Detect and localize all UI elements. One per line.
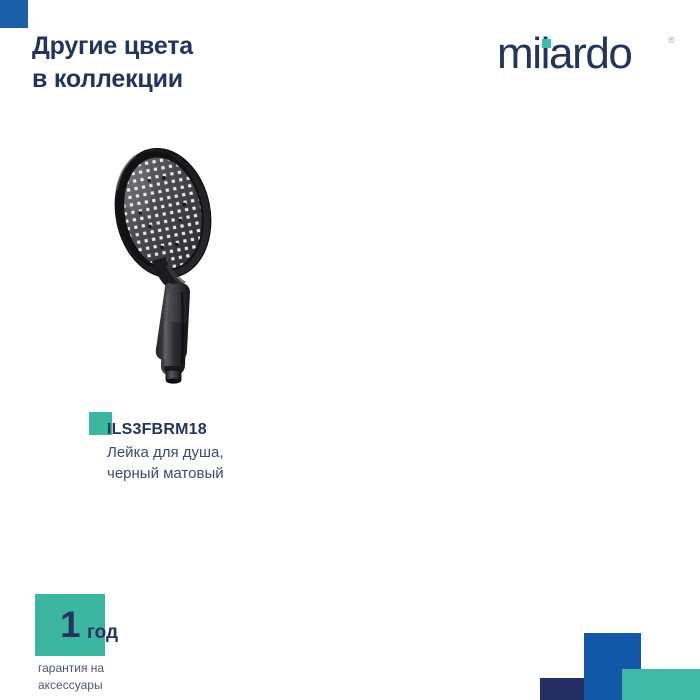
brand-logo-text: milardo — [497, 32, 631, 76]
warranty-unit: год — [87, 622, 118, 644]
promo-canvas: Другие цвета в коллекции milardo ® — [0, 0, 700, 700]
product-description: Лейка для душа, черный матовый — [107, 443, 337, 484]
shower-head-icon — [100, 135, 260, 390]
warranty-caption: гарантия на аксессуары — [38, 660, 178, 694]
warranty-number: 1 — [60, 602, 81, 647]
corner-accent-teal — [622, 669, 700, 700]
brand-logo-dot-icon — [542, 39, 551, 48]
warranty-badge: 1 год гарантия на аксессуары — [35, 594, 185, 694]
product-image — [100, 135, 260, 390]
product-sku: ILS3FBRM18 — [107, 421, 207, 439]
registered-trademark-icon: ® — [668, 35, 675, 45]
page-title: Другие цвета в коллекции — [32, 30, 332, 96]
brand-logo: milardo ® — [497, 32, 687, 80]
corner-accent-top-left — [0, 0, 28, 28]
